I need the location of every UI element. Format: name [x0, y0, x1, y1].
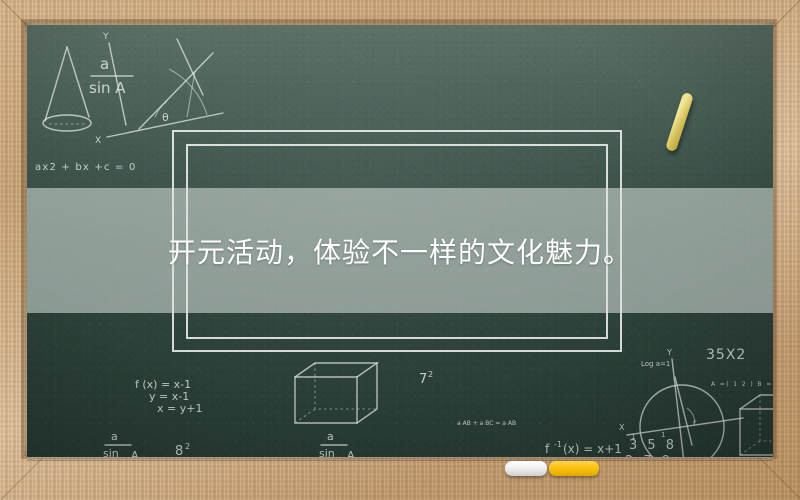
chalkboard-scene: .cl{fill:none;stroke:#e9efec;stroke-opac… — [0, 0, 800, 500]
chalk-piece-yellow-ledge — [549, 461, 599, 476]
banner-headline: 开元活动，体验不一样的文化魅力。 — [27, 188, 773, 313]
chalk-piece-white-ledge — [505, 461, 547, 476]
chalk-ledge-edge — [27, 457, 773, 461]
